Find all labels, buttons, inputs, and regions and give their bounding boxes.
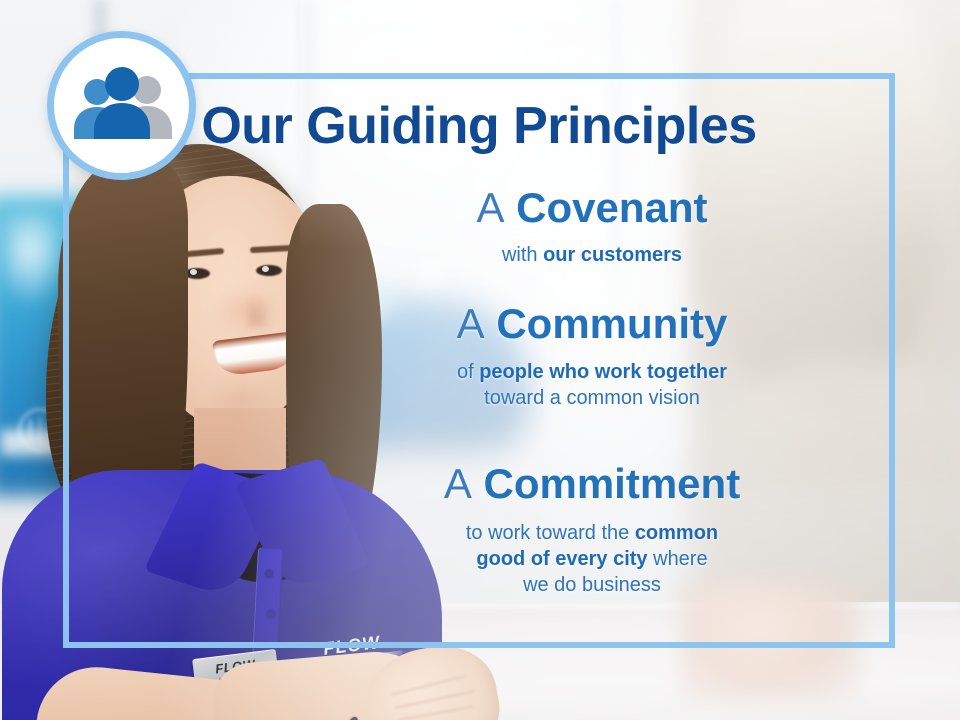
people-group-badge	[47, 31, 196, 180]
poster: FLOW FLOW AUTOMOTIVE	[0, 0, 960, 720]
people-group-icon	[70, 64, 174, 148]
customer-hand	[680, 582, 860, 702]
customer-hair	[696, 0, 942, 410]
associate-eye-highlight	[262, 266, 269, 272]
glass-mullion	[610, 0, 622, 300]
associate-nose	[246, 294, 272, 328]
associate-eye-highlight	[190, 269, 197, 275]
shirt-button	[265, 570, 273, 578]
shirt-button	[267, 610, 275, 618]
associate-figure: FLOW FLOW AUTOMOTIVE	[18, 118, 448, 720]
associate-eye	[256, 265, 282, 276]
